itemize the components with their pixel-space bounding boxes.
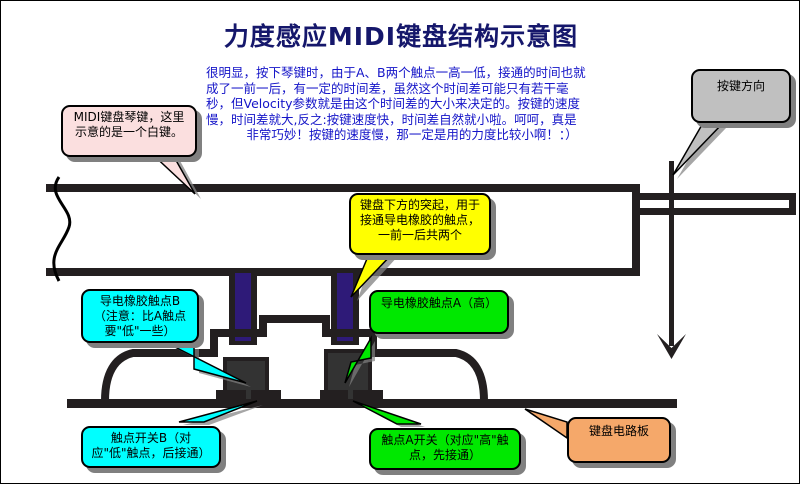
callout-midi-key: MIDI键盘琴键，这里示意的是一个白键。: [61, 105, 197, 157]
callout-key-bumps: 键盘下方的突起，用于接通导电橡胶的触点，一前一后共两个: [349, 193, 491, 255]
callout-rubber-contact-b: 导电橡胶触点B（注意：比A触点要"低"一些）: [81, 289, 199, 343]
callout-switch-b: 触点开关B（对应"低"触点，后接通）: [81, 426, 221, 468]
diagram-canvas: 力度感应MIDI键盘结构示意图 很明显，按下琴键时，由于A、B两个触点一高一低，…: [0, 0, 800, 484]
callout-keyboard-pcb: 键盘电路板: [567, 417, 671, 463]
callout-rubber-contact-a: 导电橡胶触点A（高）: [369, 290, 509, 334]
callout-switch-a: 触点A开关（对应"高"触点，先接通）: [369, 428, 521, 470]
callout-press-direction: 按键方向: [691, 69, 791, 123]
